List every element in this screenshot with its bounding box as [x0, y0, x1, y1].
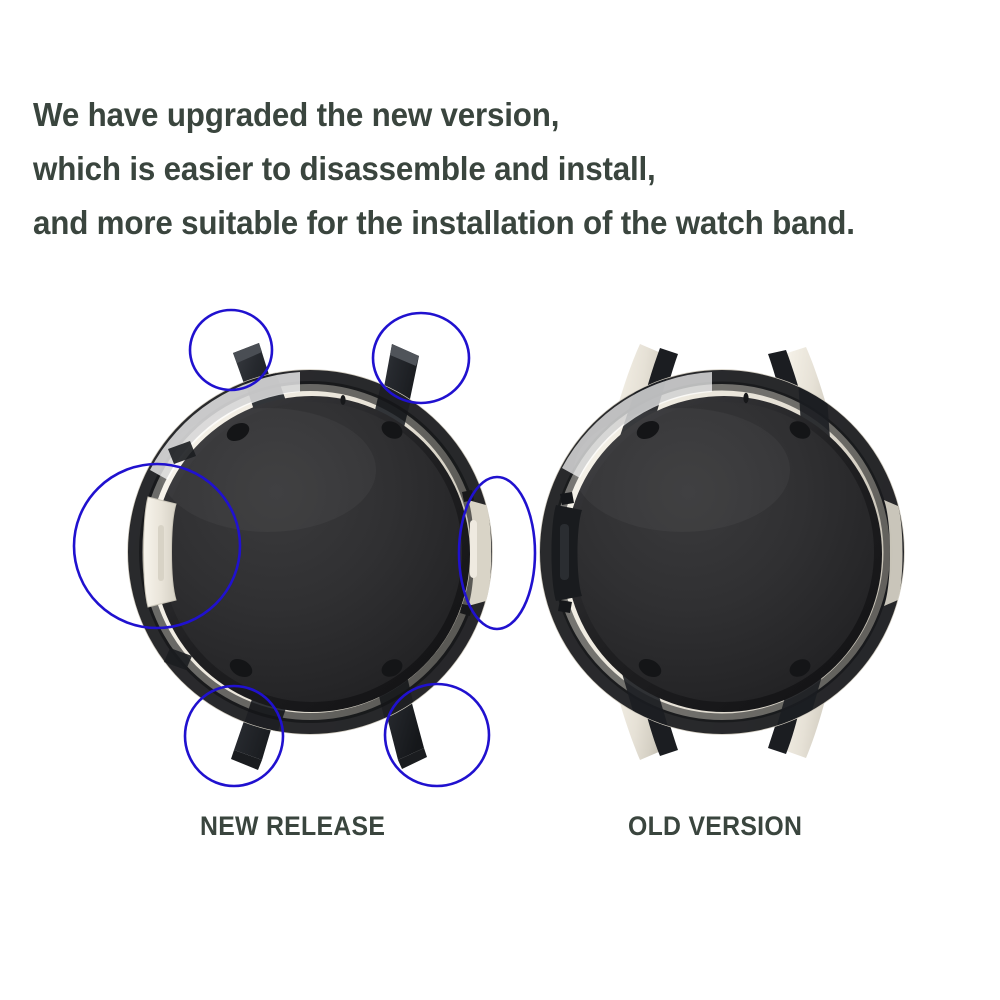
- headline-line-3: and more suitable for the installation o…: [33, 196, 936, 250]
- old-version-mic-hole: [743, 393, 748, 403]
- new-release-mic-hole: [340, 395, 345, 405]
- headline-line-1: We have upgraded the new version,: [33, 88, 936, 142]
- old-version-left-button-recess: [552, 505, 583, 601]
- old-version-watch-case: [540, 344, 904, 762]
- caption-old-version: OLD VERSION: [628, 811, 802, 842]
- image-canvas: We have upgraded the new version, which …: [0, 0, 1000, 1000]
- headline-line-2: which is easier to disassemble and insta…: [33, 142, 936, 196]
- annotation-top-right-lug-circle: [373, 313, 469, 403]
- new-release-left-button-cover: [144, 497, 177, 607]
- new-release-watch-case: [128, 343, 492, 770]
- caption-new-release: NEW RELEASE: [200, 811, 385, 842]
- page-headline: We have upgraded the new version, which …: [33, 88, 936, 250]
